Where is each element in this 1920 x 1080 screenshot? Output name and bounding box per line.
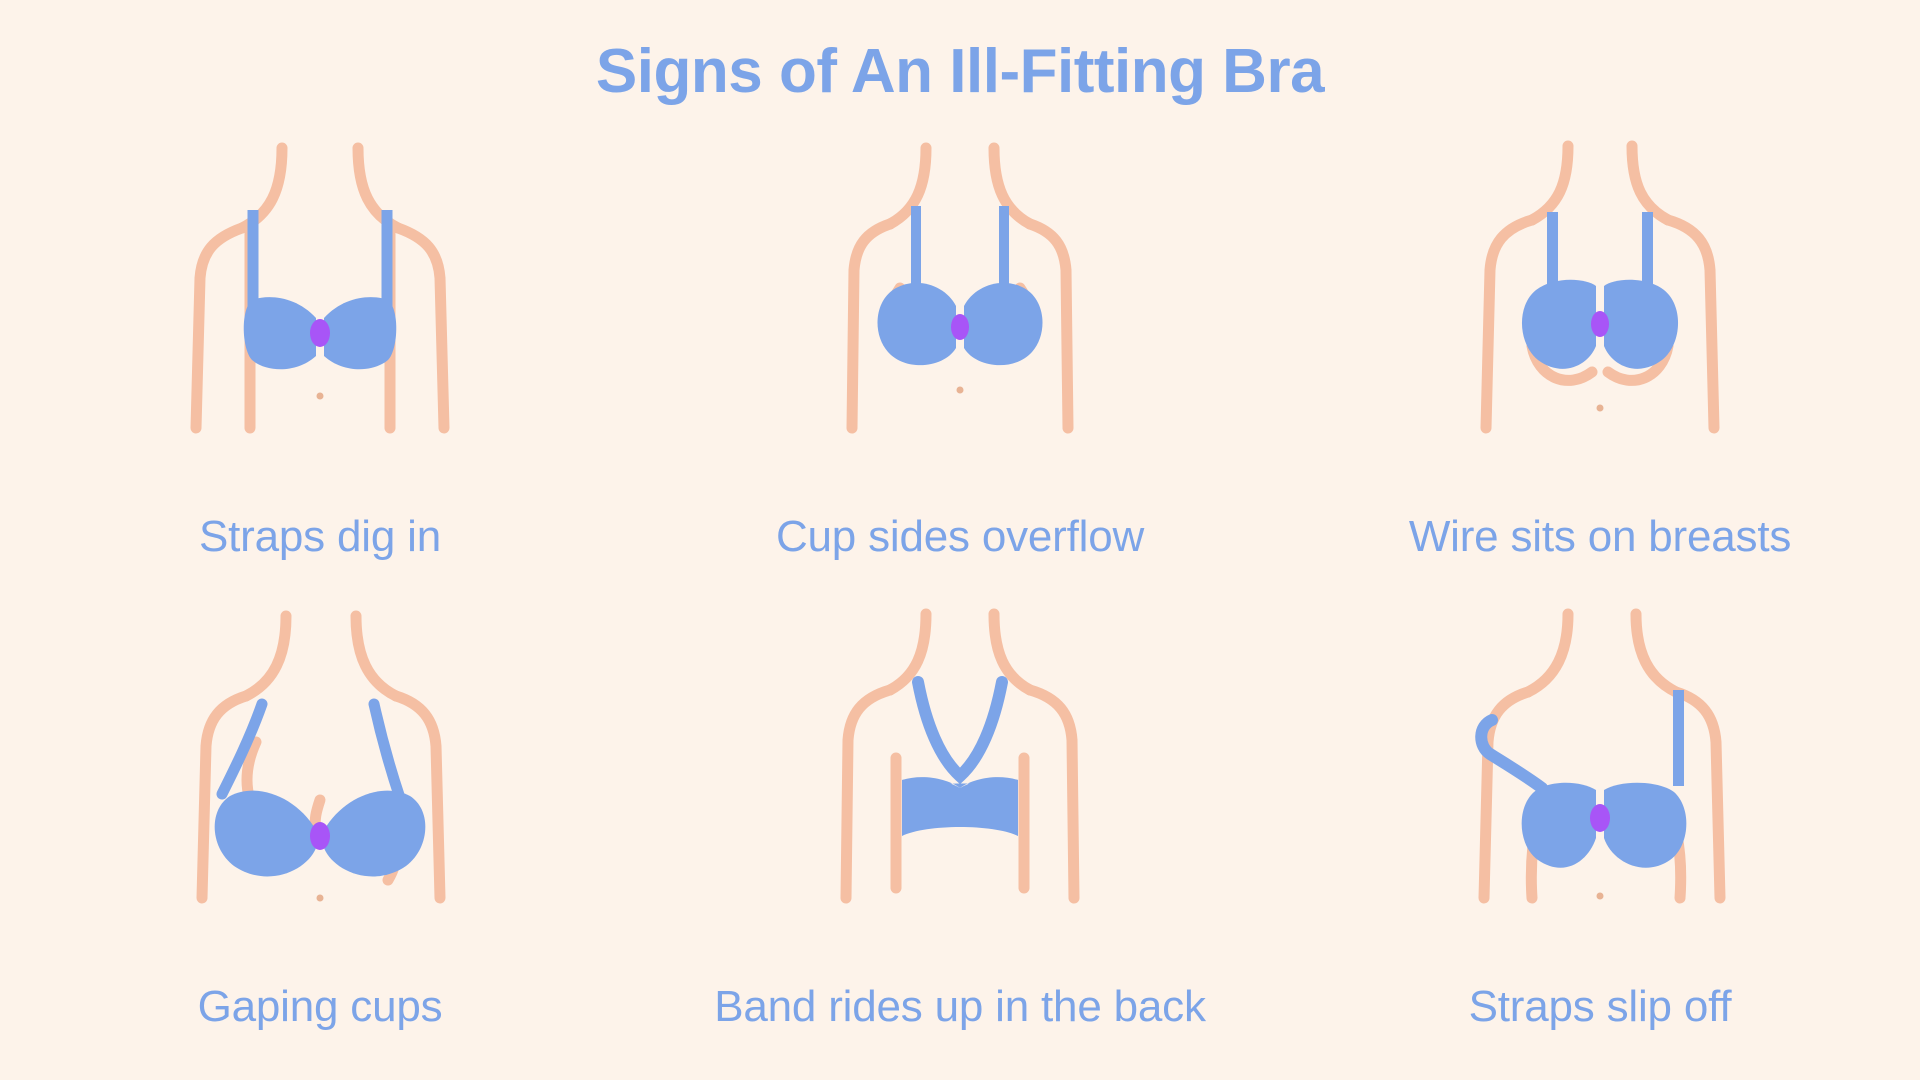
sign-label: Wire sits on breasts <box>1409 512 1791 562</box>
center-gem <box>1591 311 1609 337</box>
page-title: Signs of An Ill-Fitting Bra <box>0 36 1920 107</box>
sign-card-band-rides-up: Band rides up in the back <box>640 598 1280 1068</box>
illustration-straps-slip-off <box>1390 598 1810 978</box>
center-gem <box>310 319 330 347</box>
sign-card-cup-sides-overflow: Cup sides overflow <box>640 128 1280 598</box>
illustration-wire-sits-on-breasts <box>1390 128 1810 508</box>
illustration-straps-dig-in <box>110 128 530 508</box>
bra-shape <box>244 210 397 369</box>
bra-shape <box>878 206 1043 365</box>
navel-dot <box>317 895 324 902</box>
center-gem <box>1590 804 1610 832</box>
sign-label: Band rides up in the back <box>714 982 1206 1032</box>
infographic-root: Signs of An Ill-Fitting Bra <box>0 0 1920 1080</box>
sign-label: Gaping cups <box>198 982 443 1032</box>
shoulder-strap <box>1673 690 1684 786</box>
bra-shape <box>1481 690 1686 868</box>
sign-card-straps-slip-off: Straps slip off <box>1280 598 1920 1068</box>
center-gem <box>951 314 969 340</box>
sign-label: Straps dig in <box>199 512 441 562</box>
sign-card-wire-sits-on-breasts: Wire sits on breasts <box>1280 128 1920 598</box>
bra-shape <box>1522 212 1678 369</box>
bra-shape <box>902 682 1018 836</box>
sign-card-gaping-cups: Gaping cups <box>0 598 640 1068</box>
navel-dot <box>957 387 964 394</box>
illustration-gaping-cups <box>110 598 530 978</box>
sign-card-straps-dig-in: Straps dig in <box>0 128 640 598</box>
sign-label: Straps slip off <box>1469 982 1732 1032</box>
center-gem <box>310 822 330 850</box>
illustration-cup-sides-overflow <box>750 128 1170 508</box>
illustration-band-rides-up-in-the-back <box>750 598 1170 978</box>
signs-grid: Straps dig in <box>0 128 1920 1068</box>
navel-dot <box>1597 405 1604 412</box>
navel-dot <box>1597 893 1604 900</box>
sign-label: Cup sides overflow <box>776 512 1144 562</box>
navel-dot <box>317 393 324 400</box>
